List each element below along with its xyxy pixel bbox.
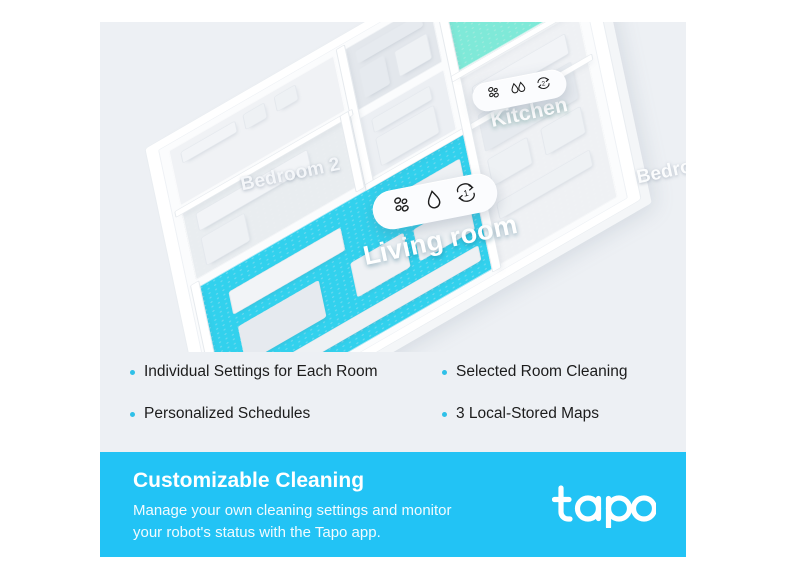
suction-power-icon[interactable] [389, 192, 416, 223]
isometric-apartment [145, 22, 640, 352]
bullet-dot-icon [130, 412, 135, 417]
suction-power-icon[interactable] [485, 84, 505, 108]
tapo-logo [552, 482, 656, 528]
feature-list: Individual Settings for Each Room Person… [100, 355, 686, 435]
room-label-bedroom-1: Bedroom 1 [635, 147, 686, 190]
feature-item: Personalized Schedules [130, 397, 377, 431]
banner-title: Customizable Cleaning [133, 469, 364, 493]
feature-column-left: Individual Settings for Each Room Person… [130, 355, 377, 431]
floorplan-illustration: Bedroom 2 Bedroom 1 Kitchen Living room [100, 22, 686, 352]
svg-text:2: 2 [541, 80, 546, 88]
feature-label: Selected Room Cleaning [456, 363, 627, 381]
water-level-icon[interactable] [508, 79, 530, 103]
svg-text:1: 1 [463, 188, 470, 199]
promo-banner: Customizable Cleaning Manage your own cl… [100, 452, 686, 557]
bullet-dot-icon [442, 370, 447, 375]
repeat-count-icon[interactable]: 1 [452, 180, 481, 211]
bullet-dot-icon [130, 370, 135, 375]
feature-label: Individual Settings for Each Room [144, 363, 377, 381]
feature-item: Selected Room Cleaning [442, 355, 627, 389]
promo-card: Bedroom 2 Bedroom 1 Kitchen Living room [0, 0, 786, 587]
repeat-count-icon[interactable]: 2 [534, 74, 555, 98]
feature-label: Personalized Schedules [144, 405, 310, 423]
feature-item: 3 Local-Stored Maps [442, 397, 627, 431]
banner-subtitle-line-2: your robot's status with the Tapo app. [133, 522, 452, 544]
bullet-dot-icon [442, 412, 447, 417]
banner-subtitle-line-1: Manage your own cleaning settings and mo… [133, 500, 452, 522]
feature-column-right: Selected Room Cleaning 3 Local-Stored Ma… [442, 355, 627, 431]
feature-label: 3 Local-Stored Maps [456, 405, 599, 423]
banner-subtitle: Manage your own cleaning settings and mo… [133, 500, 452, 544]
feature-item: Individual Settings for Each Room [130, 355, 377, 389]
water-level-icon[interactable] [423, 187, 446, 217]
